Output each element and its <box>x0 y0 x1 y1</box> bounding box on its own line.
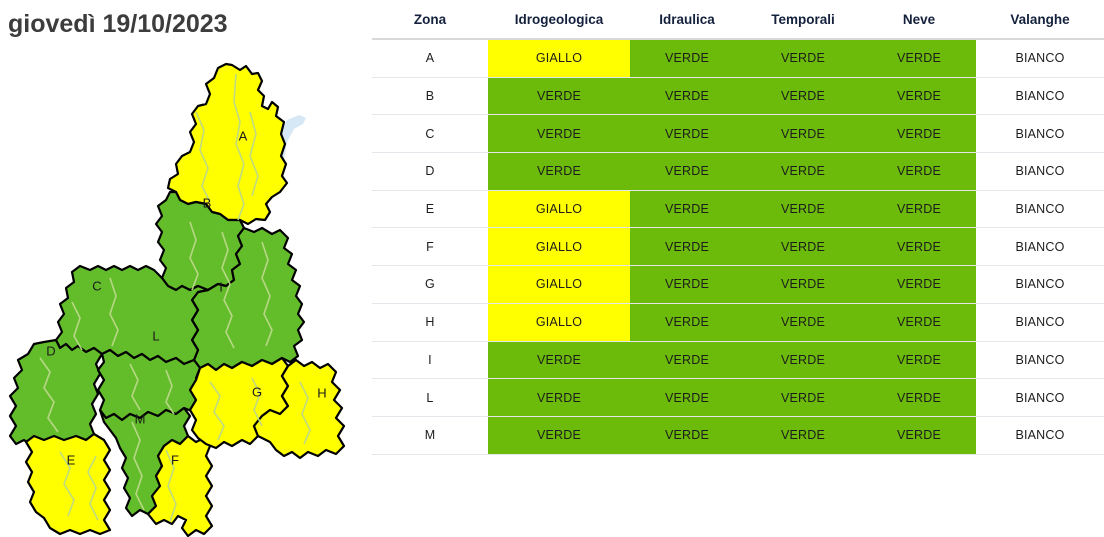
col-header-neve: Neve <box>862 0 976 39</box>
cell-idrogeologica: VERDE <box>488 115 630 153</box>
alert-table-panel: Zona Idrogeologica Idraulica Temporali N… <box>372 0 1104 537</box>
map-label-L: L <box>152 328 159 343</box>
cell-temporali: VERDE <box>744 379 862 417</box>
cell-temporali: VERDE <box>744 228 862 266</box>
cell-idraulica: VERDE <box>630 266 744 304</box>
cell-idraulica: VERDE <box>630 228 744 266</box>
cell-zona: A <box>372 39 488 77</box>
cell-idrogeologica: GIALLO <box>488 39 630 77</box>
cell-idrogeologica: VERDE <box>488 153 630 191</box>
cell-neve: VERDE <box>862 416 976 454</box>
col-header-idrogeologica: Idrogeologica <box>488 0 630 39</box>
table-row: GGIALLOVERDEVERDEVERDEBIANCO <box>372 266 1104 304</box>
cell-idraulica: VERDE <box>630 153 744 191</box>
cell-valanghe: BIANCO <box>976 190 1104 228</box>
cell-idrogeologica: GIALLO <box>488 303 630 341</box>
cell-idraulica: VERDE <box>630 190 744 228</box>
table-row: AGIALLOVERDEVERDEVERDEBIANCO <box>372 39 1104 77</box>
cell-idrogeologica: VERDE <box>488 379 630 417</box>
table-row: LVERDEVERDEVERDEVERDEBIANCO <box>372 379 1104 417</box>
map-svg: A B C D E F G H I L M <box>0 52 372 537</box>
cell-idraulica: VERDE <box>630 416 744 454</box>
map-label-A: A <box>239 128 248 143</box>
warning-bulletin-page: giovedì 19/10/2023 <box>0 0 1104 537</box>
cell-temporali: VERDE <box>744 39 862 77</box>
cell-idraulica: VERDE <box>630 39 744 77</box>
cell-valanghe: BIANCO <box>976 228 1104 266</box>
cell-zona: B <box>372 77 488 115</box>
cell-temporali: VERDE <box>744 341 862 379</box>
cell-zona: F <box>372 228 488 266</box>
cell-idrogeologica: VERDE <box>488 77 630 115</box>
cell-neve: VERDE <box>862 341 976 379</box>
alert-table: Zona Idrogeologica Idraulica Temporali N… <box>372 0 1104 455</box>
map-label-F: F <box>171 452 179 467</box>
cell-temporali: VERDE <box>744 416 862 454</box>
cell-valanghe: BIANCO <box>976 77 1104 115</box>
map-label-C: C <box>92 278 101 293</box>
cell-idraulica: VERDE <box>630 303 744 341</box>
cell-valanghe: BIANCO <box>976 153 1104 191</box>
cell-zona: C <box>372 115 488 153</box>
alert-table-body: AGIALLOVERDEVERDEVERDEBIANCOBVERDEVERDEV… <box>372 39 1104 454</box>
map-label-D: D <box>46 343 55 358</box>
cell-zona: H <box>372 303 488 341</box>
cell-valanghe: BIANCO <box>976 379 1104 417</box>
col-header-idraulica: Idraulica <box>630 0 744 39</box>
col-header-zona: Zona <box>372 0 488 39</box>
cell-idraulica: VERDE <box>630 115 744 153</box>
cell-temporali: VERDE <box>744 190 862 228</box>
cell-idrogeologica: GIALLO <box>488 266 630 304</box>
cell-temporali: VERDE <box>744 153 862 191</box>
cell-idrogeologica: VERDE <box>488 341 630 379</box>
cell-neve: VERDE <box>862 303 976 341</box>
map-label-E: E <box>67 452 76 467</box>
cell-neve: VERDE <box>862 228 976 266</box>
cell-zona: L <box>372 379 488 417</box>
col-header-valanghe: Valanghe <box>976 0 1104 39</box>
cell-zona: E <box>372 190 488 228</box>
cell-valanghe: BIANCO <box>976 39 1104 77</box>
table-row: IVERDEVERDEVERDEVERDEBIANCO <box>372 341 1104 379</box>
cell-neve: VERDE <box>862 379 976 417</box>
cell-idrogeologica: GIALLO <box>488 190 630 228</box>
cell-zona: I <box>372 341 488 379</box>
cell-temporali: VERDE <box>744 115 862 153</box>
cell-neve: VERDE <box>862 39 976 77</box>
map-label-B: B <box>203 195 212 210</box>
cell-zona: G <box>372 266 488 304</box>
cell-idraulica: VERDE <box>630 379 744 417</box>
cell-idraulica: VERDE <box>630 341 744 379</box>
cell-valanghe: BIANCO <box>976 115 1104 153</box>
table-row: HGIALLOVERDEVERDEVERDEBIANCO <box>372 303 1104 341</box>
cell-valanghe: BIANCO <box>976 266 1104 304</box>
cell-temporali: VERDE <box>744 303 862 341</box>
cell-temporali: VERDE <box>744 266 862 304</box>
map-label-I: I <box>219 279 223 294</box>
alert-table-head: Zona Idrogeologica Idraulica Temporali N… <box>372 0 1104 39</box>
cell-neve: VERDE <box>862 115 976 153</box>
map-label-G: G <box>252 384 262 399</box>
header-row: Zona Idrogeologica Idraulica Temporali N… <box>372 0 1104 39</box>
map-label-M: M <box>135 411 146 426</box>
cell-idrogeologica: GIALLO <box>488 228 630 266</box>
table-row: MVERDEVERDEVERDEVERDEBIANCO <box>372 416 1104 454</box>
cell-neve: VERDE <box>862 77 976 115</box>
map-label-H: H <box>317 385 326 400</box>
map-panel: giovedì 19/10/2023 <box>0 0 372 537</box>
map-zone-A[interactable] <box>168 64 287 224</box>
cell-valanghe: BIANCO <box>976 341 1104 379</box>
cell-valanghe: BIANCO <box>976 303 1104 341</box>
table-row: BVERDEVERDEVERDEVERDEBIANCO <box>372 77 1104 115</box>
cell-neve: VERDE <box>862 153 976 191</box>
piemonte-alert-map: A B C D E F G H I L M <box>0 52 372 537</box>
table-row: EGIALLOVERDEVERDEVERDEBIANCO <box>372 190 1104 228</box>
cell-idraulica: VERDE <box>630 77 744 115</box>
cell-valanghe: BIANCO <box>976 416 1104 454</box>
col-header-temporali: Temporali <box>744 0 862 39</box>
cell-temporali: VERDE <box>744 77 862 115</box>
cell-neve: VERDE <box>862 266 976 304</box>
table-row: FGIALLOVERDEVERDEVERDEBIANCO <box>372 228 1104 266</box>
cell-zona: M <box>372 416 488 454</box>
cell-neve: VERDE <box>862 190 976 228</box>
page-title: giovedì 19/10/2023 <box>8 10 228 39</box>
cell-idrogeologica: VERDE <box>488 416 630 454</box>
table-row: CVERDEVERDEVERDEVERDEBIANCO <box>372 115 1104 153</box>
cell-zona: D <box>372 153 488 191</box>
table-row: DVERDEVERDEVERDEVERDEBIANCO <box>372 153 1104 191</box>
